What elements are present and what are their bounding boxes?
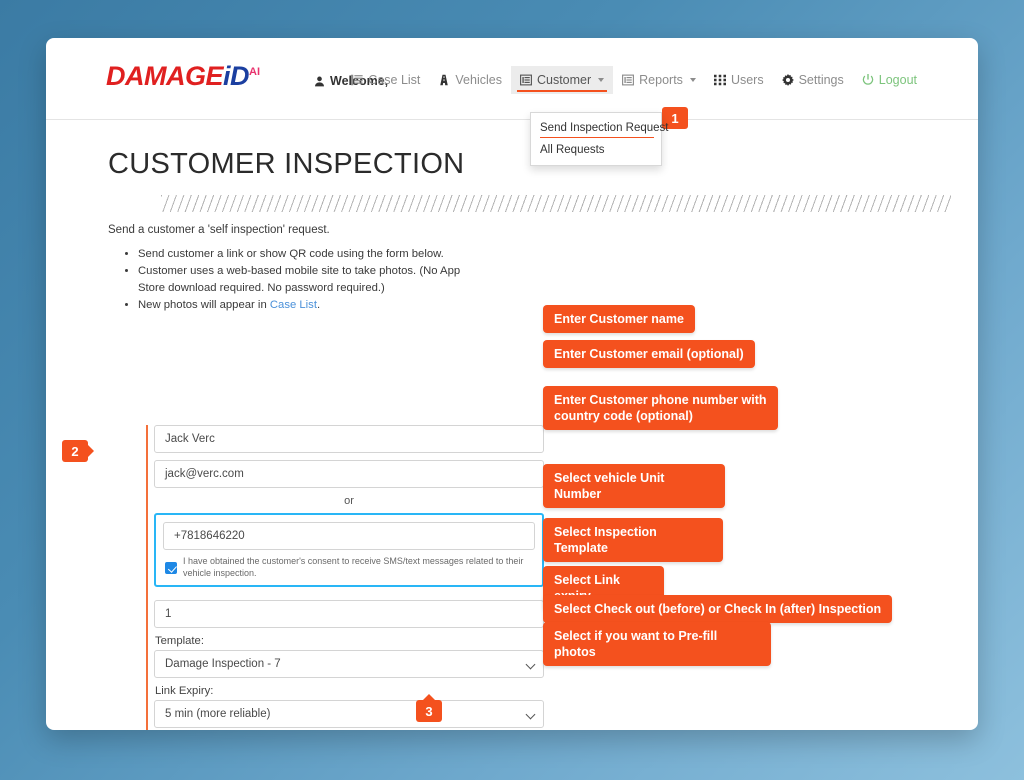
nav-item-vehicles[interactable]: Vehicles	[429, 66, 511, 94]
nav-label: Logout	[879, 73, 917, 87]
bullet-post-text: .	[317, 299, 320, 311]
callout-checkio: Select Check out (before) or Check In (a…	[543, 595, 892, 623]
vehicle-unit-number-input[interactable]: 1	[154, 600, 544, 628]
or-separator-label: or	[154, 495, 544, 507]
nav-label: Vehicles	[455, 73, 502, 87]
sms-consent-label: I have obtained the customer's consent t…	[183, 555, 533, 579]
road-icon	[438, 74, 450, 86]
customer-phone-input[interactable]: +7818646220	[163, 522, 535, 550]
link-expiry-select[interactable]: 5 min (more reliable)	[154, 700, 544, 728]
dropdown-item-all-requests[interactable]: All Requests	[531, 139, 661, 161]
chevron-down-icon	[690, 78, 696, 82]
step-badge-3: 3	[416, 700, 442, 722]
nav-item-logout[interactable]: Logout	[853, 66, 926, 94]
customer-email-input[interactable]: jack@verc.com	[154, 460, 544, 488]
nav-item-users[interactable]: Users	[705, 66, 773, 94]
chevron-down-icon	[526, 710, 536, 720]
instructions-list: Send customer a link or show QR code usi…	[138, 246, 978, 314]
page-lead-text: Send a customer a 'self inspection' requ…	[108, 224, 978, 236]
dropdown-item-send-inspection-request[interactable]: Send Inspection Request	[531, 117, 661, 139]
logo-id-text: iD	[223, 61, 249, 91]
list-item: New photos will appear in Case List.	[138, 297, 483, 313]
brand-logo[interactable]: DAMAGEiDAI	[106, 61, 260, 92]
list-item: Send customer a link or show QR code usi…	[138, 246, 483, 262]
consent-row: I have obtained the customer's consent t…	[163, 555, 535, 581]
link-expiry-label: Link Expiry:	[155, 685, 544, 697]
step-badge-2: 2	[62, 440, 88, 462]
chevron-down-icon	[598, 78, 604, 82]
link-expiry-selected-value: 5 min (more reliable)	[165, 708, 270, 720]
phone-consent-group: +7818646220 I have obtained the customer…	[154, 513, 544, 587]
nav-item-customer[interactable]: Customer	[511, 66, 613, 94]
logo-ai-superscript: AI	[249, 66, 260, 78]
user-icon	[314, 76, 325, 87]
nav-label: Reports	[639, 73, 683, 87]
list-item: Customer uses a web-based mobile site to…	[138, 263, 483, 296]
nav-label: Case List	[368, 73, 420, 87]
chevron-down-icon	[526, 660, 536, 670]
window-icon	[520, 74, 532, 86]
callout-prefill: Select if you want to Pre-fill photos	[543, 622, 771, 666]
grid-icon	[714, 74, 726, 86]
template-selected-value: Damage Inspection - 7	[165, 658, 281, 670]
template-label: Template:	[155, 635, 544, 647]
bullet-pre-text: New photos will appear in	[138, 299, 270, 311]
customer-dropdown-menu: Send Inspection Request All Requests	[530, 112, 662, 166]
case-list-link[interactable]: Case List	[270, 299, 317, 311]
hatched-divider	[161, 195, 951, 212]
callout-template: Select Inspection Template	[543, 518, 723, 562]
nav-label: Settings	[799, 73, 844, 87]
callout-unit: Select vehicle Unit Number	[543, 464, 725, 508]
nav-label: Customer	[537, 73, 591, 87]
callout-name: Enter Customer name	[543, 305, 695, 333]
page-body: CUSTOMER INSPECTION Send a customer a 's…	[46, 120, 978, 730]
gear-icon	[782, 74, 794, 86]
sms-consent-checkbox[interactable]	[165, 562, 177, 574]
customer-name-input[interactable]: Jack Verc	[154, 425, 544, 453]
nav-item-reports[interactable]: Reports	[613, 66, 705, 94]
power-icon	[862, 74, 874, 86]
main-navigation: Case List Vehicles Customer Reports	[342, 66, 926, 94]
app-header: DAMAGEiDAI Welcome, Case List Vehicles	[46, 38, 978, 120]
callout-email: Enter Customer email (optional)	[543, 340, 755, 368]
nav-label: Users	[731, 73, 764, 87]
nav-item-settings[interactable]: Settings	[773, 66, 853, 94]
application-page-card: DAMAGEiDAI Welcome, Case List Vehicles	[46, 38, 978, 730]
template-select[interactable]: Damage Inspection - 7	[154, 650, 544, 678]
callout-phone: Enter Customer phone number with country…	[543, 386, 778, 430]
nav-item-case-list[interactable]: Case List	[342, 66, 429, 94]
list-icon	[351, 74, 363, 86]
inspection-request-form: Jack Verc jack@verc.com or +7818646220 I…	[154, 425, 544, 730]
logo-damage-text: DAMAGE	[106, 61, 223, 91]
window-icon	[622, 74, 634, 86]
annotation-vertical-rule	[146, 425, 148, 730]
